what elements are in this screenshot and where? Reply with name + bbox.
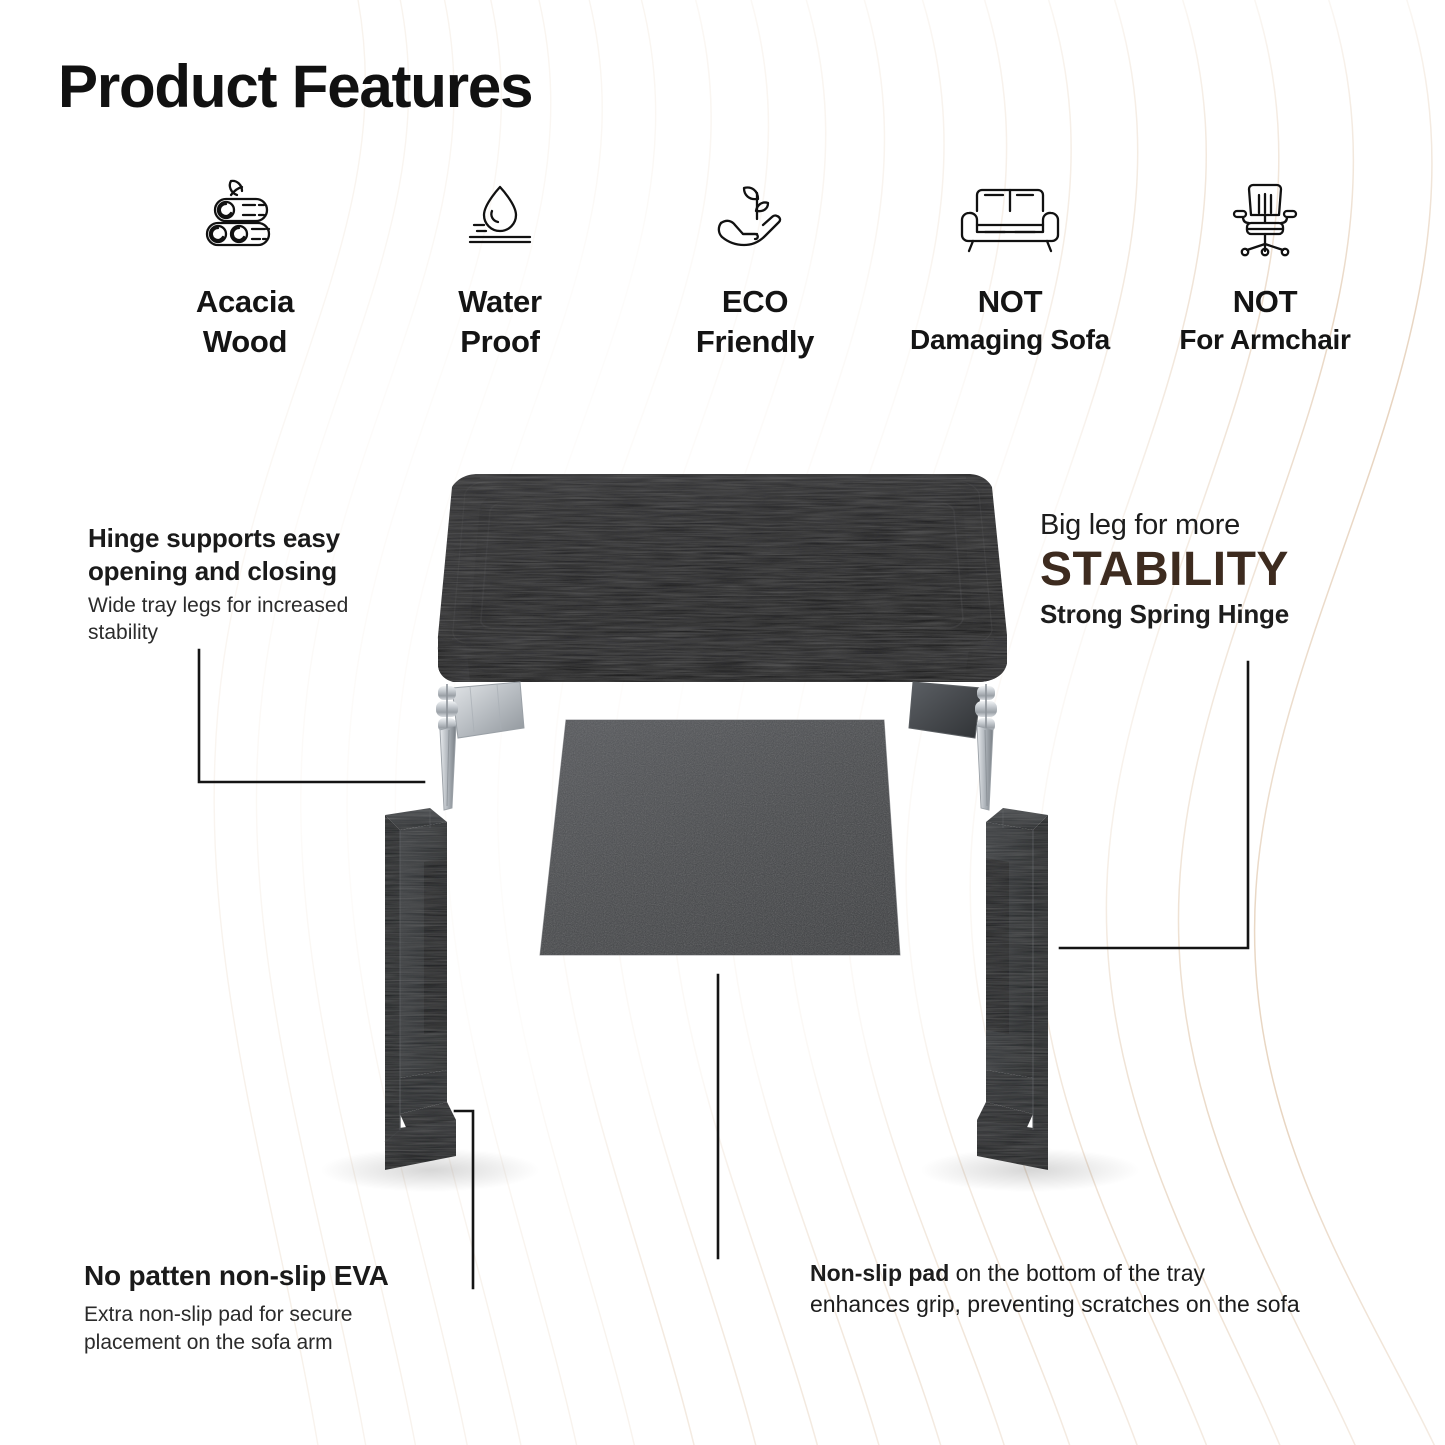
callout-stability-headline: STABILITY (1040, 543, 1340, 597)
callout-eva-sub: Extra non-slip pad for secure placement … (84, 1301, 504, 1356)
feature-item-eco-friendly: ECO Friendly (640, 168, 870, 363)
callout-hinge-sub: Wide tray legs for increased stability (88, 592, 418, 647)
logs-wood-icon (197, 168, 293, 264)
leg-left (385, 808, 456, 1170)
callout-stability-pre: Big leg for more (1040, 508, 1340, 543)
page-title: Product Features (58, 52, 532, 121)
feature-item-not-damaging-sofa: NOT Damaging Sofa (895, 168, 1125, 359)
feature-label-water-proof: Water Proof (458, 282, 541, 363)
eva-pad (540, 720, 900, 955)
feature-icon-strip: Acacia Wood Water Proof (130, 168, 1380, 363)
callout-pad: Non-slip pad on the bottom of the tray e… (810, 1258, 1310, 1321)
callout-stability: Big leg for more STABILITY Strong Spring… (1040, 508, 1340, 630)
feature-label-eco-friendly: ECO Friendly (696, 282, 814, 363)
feature-item-acacia-wood: Acacia Wood (130, 168, 360, 363)
callout-hinge-title: Hinge supports easy opening and closing (88, 522, 418, 588)
hand-sprout-icon (707, 168, 803, 264)
feature-label-acacia-wood: Acacia Wood (196, 282, 294, 363)
water-drop-icon (452, 168, 548, 264)
hinge-right (909, 682, 997, 810)
feature-label-not-for-armchair: NOT For Armchair (1179, 282, 1350, 359)
feature-label-not-damaging-sofa: NOT Damaging Sofa (910, 282, 1110, 359)
leg-right (977, 808, 1048, 1170)
feature-item-not-for-armchair: NOT For Armchair (1150, 168, 1380, 359)
callout-stability-post: Strong Spring Hinge (1040, 599, 1340, 630)
feature-item-water-proof: Water Proof (385, 168, 615, 363)
callout-eva: No patten non-slip EVA Extra non-slip pa… (84, 1258, 504, 1356)
tray-top (438, 474, 1007, 682)
callout-eva-title: No patten non-slip EVA (84, 1258, 504, 1293)
office-chair-icon (1217, 168, 1313, 264)
callout-pad-text: Non-slip pad on the bottom of the tray e… (810, 1258, 1310, 1321)
callout-hinge: Hinge supports easy opening and closing … (88, 522, 418, 646)
sofa-icon (955, 168, 1065, 264)
callout-pad-bold: Non-slip pad (810, 1260, 949, 1286)
hinge-left (436, 682, 524, 810)
